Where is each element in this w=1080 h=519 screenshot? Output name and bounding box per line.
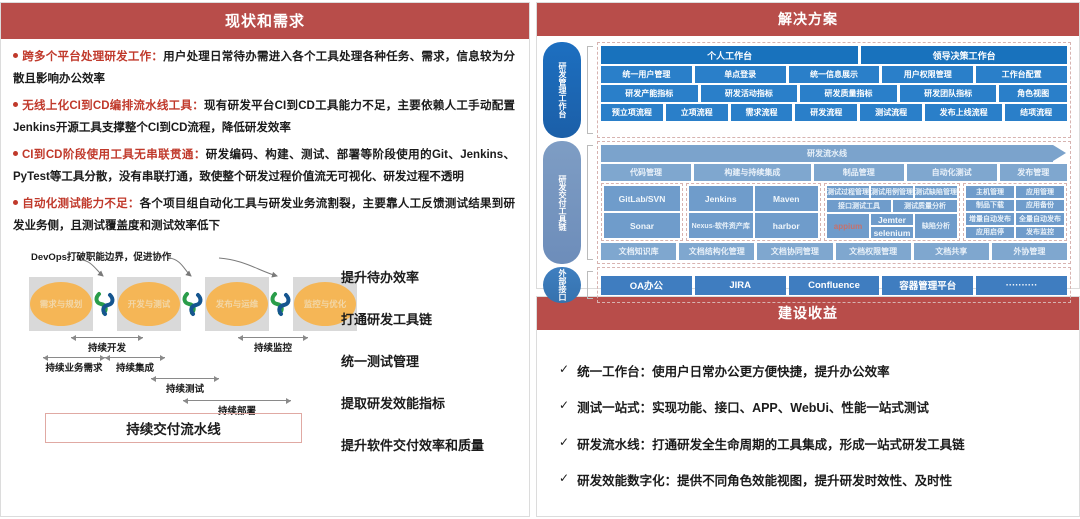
span-label: 持续开发 (71, 340, 143, 354)
architecture-brackets (585, 42, 593, 303)
tool-incremental-release[interactable]: 增量自动发布 (966, 213, 1014, 225)
check-icon: ✓ (559, 434, 569, 449)
tool-api-test[interactable]: 接口测试工具 (827, 200, 891, 212)
bracket-icon (585, 141, 593, 264)
list-item: ✓ 统一工作台：使用户日常办公更方便快捷，提升办公效率 (559, 361, 1061, 380)
solution-panel: 解决方案 研发管理工作台 研发交付工具链 外部接口 个人工作台 (536, 2, 1080, 289)
tool-gitlab-svn[interactable]: GitLab/SVN (604, 186, 680, 211)
tool-test-process-mgmt[interactable]: 测试过程管理 (827, 186, 869, 198)
stage-box: 开发与测试 (117, 277, 181, 331)
cell-release-flow[interactable]: 发布上线流程 (925, 104, 1002, 121)
cell-release-mgmt[interactable]: 发布管理 (1000, 164, 1067, 181)
tool-sonar[interactable]: Sonar (604, 213, 680, 238)
cell-test-flow[interactable]: 测试流程 (860, 104, 922, 121)
cell-capacity-metric[interactable]: 研发产能指标 (601, 85, 698, 102)
layer-label-delivery: 研发交付工具链 (543, 141, 581, 264)
infinity-icon (93, 291, 117, 317)
cell-doc-knowledge-base[interactable]: 文档知识库 (601, 243, 676, 260)
infinity-icon (181, 291, 205, 317)
cell-workbench-config[interactable]: 工作台配置 (976, 66, 1067, 83)
cell-closing-flow[interactable]: 结项流程 (1005, 104, 1067, 121)
left-column: 现状和需求 跨多个平台处理研发工作：用户处理日常待办需进入各个工具处理各种任务、… (0, 2, 530, 517)
tool-maven[interactable]: Maven (755, 186, 819, 211)
bullet-dot-icon (13, 200, 18, 205)
devops-stage-row: 需求与规划 开发与测试 (29, 277, 357, 331)
list-item: ✓ 测试一站式：实现功能、接口、APP、WebUi、性能一站式测试 (559, 397, 1061, 416)
list-item: 提升软件交付效率和质量 (341, 435, 484, 454)
delivery-group: 研发流水线 代码管理 构建与持续集成 制品管理 自动化测试 发布管理 GitLa… (597, 141, 1071, 264)
cell-doc-structured-mgmt[interactable]: 文档结构化管理 (679, 243, 754, 260)
cell-jira[interactable]: JIRA (695, 276, 786, 295)
list-item: 提取研发效能指标 (341, 393, 484, 412)
workbench-row-4: 预立项流程 立项流程 需求流程 研发流程 测试流程 发布上线流程 结项流程 (601, 104, 1067, 121)
tool-full-release[interactable]: 全量自动发布 (1016, 213, 1064, 225)
right-column: 解决方案 研发管理工作台 研发交付工具链 外部接口 个人工作台 (536, 2, 1080, 517)
span-arrow: 持续集成 (105, 357, 165, 374)
tool-jenkins[interactable]: Jenkins (689, 186, 753, 211)
tool-release-monitor[interactable]: 发布监控 (1016, 227, 1064, 239)
list-item: ✓ 研发效能数字化：提供不同角色效能视图，提升研发时效性、及时性 (559, 470, 1061, 489)
tool-test-quality-analysis[interactable]: 测试质量分析 (893, 200, 957, 212)
span-label: 持续测试 (151, 381, 219, 395)
cell-code-mgmt[interactable]: 代码管理 (601, 164, 691, 181)
cell-unified-info-display[interactable]: 统一信息展示 (789, 66, 880, 83)
architecture-groups: 个人工作台 领导决策工作台 统一用户管理 单点登录 统一信息展示 用户权限管理 … (597, 42, 1071, 303)
stage-label: 开发与测试 (118, 282, 180, 326)
span-arrow: 持续开发 (71, 337, 143, 354)
list-item: 打通研发工具链 (341, 309, 484, 328)
check-icon: ✓ (559, 470, 569, 485)
cell-doc-collab-mgmt[interactable]: 文档协同管理 (757, 243, 832, 260)
tool-test-case-mgmt[interactable]: 测试用例管理 (871, 186, 913, 198)
architecture-layer-labels: 研发管理工作台 研发交付工具链 外部接口 (543, 42, 581, 303)
stage-box: 发布与运维 (205, 277, 269, 331)
bracket-icon (585, 42, 593, 138)
cell-container-platform[interactable]: 容器管理平台 (882, 276, 973, 295)
tool-defect-analysis[interactable]: 缺陷分析 (915, 214, 957, 238)
benefit-text: 统一工作台：使用户日常办公更方便快捷，提升办公效率 (577, 361, 890, 380)
cell-requirement-flow[interactable]: 需求流程 (731, 104, 793, 121)
tool-app-mgmt[interactable]: 应用管理 (1016, 186, 1064, 198)
pipeline-arrow: 研发流水线 (601, 145, 1053, 162)
tool-selenium[interactable]: selenium (871, 227, 913, 238)
cell-role-view[interactable]: 角色视图 (999, 85, 1067, 102)
cell-quality-metric[interactable]: 研发质量指标 (800, 85, 897, 102)
cell-activity-metric[interactable]: 研发活动指标 (701, 85, 798, 102)
span-arrow: 持续业务需求 (43, 357, 105, 374)
benefits-list: ✓ 统一工作台：使用户日常办公更方便快捷，提升办公效率 ✓ 测试一站式：实现功能… (537, 330, 1079, 516)
continuous-delivery-pipeline-box: 持续交付流水线 (45, 413, 302, 443)
current-status-header: 现状和需求 (1, 3, 529, 39)
list-item: 无线上化CI到CD编排流水线工具：现有研发平台CI到CD工具能力不足，主要依赖人… (13, 95, 515, 140)
tool-nexus[interactable]: Nexus-软件资产库 (689, 213, 753, 238)
cell-unified-user-mgmt[interactable]: 统一用户管理 (601, 66, 692, 83)
tool-jmeter[interactable]: Jemter (871, 214, 913, 225)
test-tools-box: 测试过程管理 测试用例管理 测试缺陷管理 接口测试工具 测试质量分析 appiu… (824, 183, 960, 241)
external-row: OA办公 JIRA Confluence 容器管理平台 ·········· (601, 276, 1067, 295)
layer-label-workbench: 研发管理工作台 (543, 42, 581, 138)
bullet-title: 无线上化CI到CD编排流水线工具： (22, 100, 204, 112)
tool-boxes-row: GitLab/SVN Sonar Jenkins Maven Nexus-软件资… (601, 183, 1067, 241)
tool-harbor[interactable]: harbor (755, 213, 819, 238)
cell-dev-flow[interactable]: 研发流程 (795, 104, 857, 121)
devops-diagram: DevOps打破职能边界，促进协作 需求与规划 (1, 245, 529, 463)
workbench-group: 个人工作台 领导决策工作台 统一用户管理 单点登录 统一信息展示 用户权限管理 … (597, 42, 1071, 138)
devops-benefit-list: 提升待办效率 打通研发工具链 统一测试管理 提取研发效能指标 提升软件交付效率和… (341, 267, 484, 477)
cell-sso[interactable]: 单点登录 (695, 66, 786, 83)
cell-leader-workbench[interactable]: 领导决策工作台 (861, 46, 1067, 64)
benefit-text: 研发流水线：打通研发全生命周期的工具集成，形成一站式研发工具链 (577, 434, 965, 453)
list-item: ✓ 研发流水线：打通研发全生命周期的工具集成，形成一站式研发工具链 (559, 434, 1061, 453)
bracket-icon (585, 267, 593, 303)
pipeline-stage-row: 代码管理 构建与持续集成 制品管理 自动化测试 发布管理 (601, 164, 1067, 181)
bullet-title: CI到CD阶段使用工具无串联贯通： (22, 149, 206, 161)
status-bullet-list: 跨多个平台处理研发工作：用户处理日常待办需进入各个工具处理各种任务、需求，信息较… (1, 39, 529, 243)
cell-auto-test[interactable]: 自动化测试 (907, 164, 997, 181)
benefit-text: 测试一站式：实现功能、接口、APP、WebUi、性能一站式测试 (577, 397, 929, 416)
list-item: CI到CD阶段使用工具无串联贯通：研发编码、构建、测试、部署等阶段使用的Git、… (13, 144, 515, 189)
cell-user-permission-mgmt[interactable]: 用户权限管理 (882, 66, 973, 83)
list-item: 跨多个平台处理研发工作：用户处理日常待办需进入各个工具处理各种任务、需求，信息较… (13, 46, 515, 91)
code-tools-box: GitLab/SVN Sonar (601, 183, 683, 241)
span-label: 持续集成 (105, 360, 165, 374)
bullet-title: 跨多个平台处理研发工作： (22, 51, 163, 63)
span-arrow: 持续监控 (238, 337, 308, 354)
list-item: 统一测试管理 (341, 351, 484, 370)
cell-doc-permission-mgmt[interactable]: 文档权限管理 (836, 243, 911, 260)
architecture-diagram: 研发管理工作台 研发交付工具链 外部接口 个人工作台 领导决策工作台 (537, 36, 1079, 309)
build-tools-box: Jenkins Maven Nexus-软件资产库 harbor (686, 183, 821, 241)
tool-app-start-stop[interactable]: 应用启停 (966, 227, 1014, 239)
cell-pre-project-flow[interactable]: 预立项流程 (601, 104, 663, 121)
cell-confluence[interactable]: Confluence (789, 276, 880, 295)
benefit-text: 研发效能数字化：提供不同角色效能视图，提升研发时效性、及时性 (577, 470, 952, 489)
check-icon: ✓ (559, 397, 569, 412)
span-label: 持续监控 (238, 340, 308, 354)
bullet-dot-icon (13, 53, 18, 58)
span-label: 持续业务需求 (43, 360, 105, 374)
cell-project-flow[interactable]: 立项流程 (666, 104, 728, 121)
tool-host-mgmt[interactable]: 主机管理 (966, 186, 1014, 198)
cell-artifact-mgmt[interactable]: 制品管理 (814, 164, 904, 181)
cell-personal-workbench[interactable]: 个人工作台 (601, 46, 858, 64)
workbench-row-3: 研发产能指标 研发活动指标 研发质量指标 研发团队指标 角色视图 (601, 85, 1067, 102)
bullet-dot-icon (13, 151, 18, 156)
cell-outsource-mgmt[interactable]: 外协管理 (992, 243, 1067, 260)
layer-label-external: 外部接口 (543, 267, 581, 303)
current-status-panel: 现状和需求 跨多个平台处理研发工作：用户处理日常待办需进入各个工具处理各种任务、… (0, 2, 530, 517)
stage-label: 发布与运维 (206, 282, 268, 326)
cell-build-ci[interactable]: 构建与持续集成 (694, 164, 811, 181)
stage-box: 需求与规划 (29, 277, 93, 331)
external-group: OA办公 JIRA Confluence 容器管理平台 ·········· (597, 267, 1071, 303)
stage-label: 需求与规划 (30, 282, 92, 326)
tool-appium[interactable]: appium (827, 214, 869, 238)
document-row: 文档知识库 文档结构化管理 文档协同管理 文档权限管理 文档共享 外协管理 (601, 243, 1067, 260)
workbench-row-2: 统一用户管理 单点登录 统一信息展示 用户权限管理 工作台配置 (601, 66, 1067, 83)
check-icon: ✓ (559, 361, 569, 376)
bullet-dot-icon (13, 102, 18, 107)
workbench-row-1: 个人工作台 领导决策工作台 (601, 46, 1067, 64)
cell-team-metric[interactable]: 研发团队指标 (900, 85, 997, 102)
span-arrow: 持续测试 (151, 378, 219, 395)
infinity-icon (269, 291, 293, 317)
cell-oa[interactable]: OA办公 (601, 276, 692, 295)
list-item: 提升待办效率 (341, 267, 484, 286)
cell-doc-share[interactable]: 文档共享 (914, 243, 989, 260)
tool-app-backup[interactable]: 应用备份 (1016, 200, 1064, 212)
deploy-tools-box: 主机管理 应用管理 制品下载 应用备份 增量自动发布 全量自动发布 (963, 183, 1067, 241)
cell-more-placeholder[interactable]: ·········· (976, 276, 1067, 295)
list-item: 自动化测试能力不足：各个项目组自动化工具与研发业务流割裂，主要靠人工反馈测试结果… (13, 193, 515, 238)
bullet-title: 自动化测试能力不足： (22, 198, 140, 210)
benefits-panel: 建设收益 ✓ 统一工作台：使用户日常办公更方便快捷，提升办公效率 ✓ 测试一站式… (536, 296, 1080, 517)
tool-test-defect-mgmt[interactable]: 测试缺陷管理 (915, 186, 957, 198)
tool-artifact-download[interactable]: 制品下载 (966, 200, 1014, 212)
slide-root: 现状和需求 跨多个平台处理研发工作：用户处理日常待办需进入各个工具处理各种任务、… (0, 0, 1080, 519)
solution-header: 解决方案 (537, 3, 1079, 36)
